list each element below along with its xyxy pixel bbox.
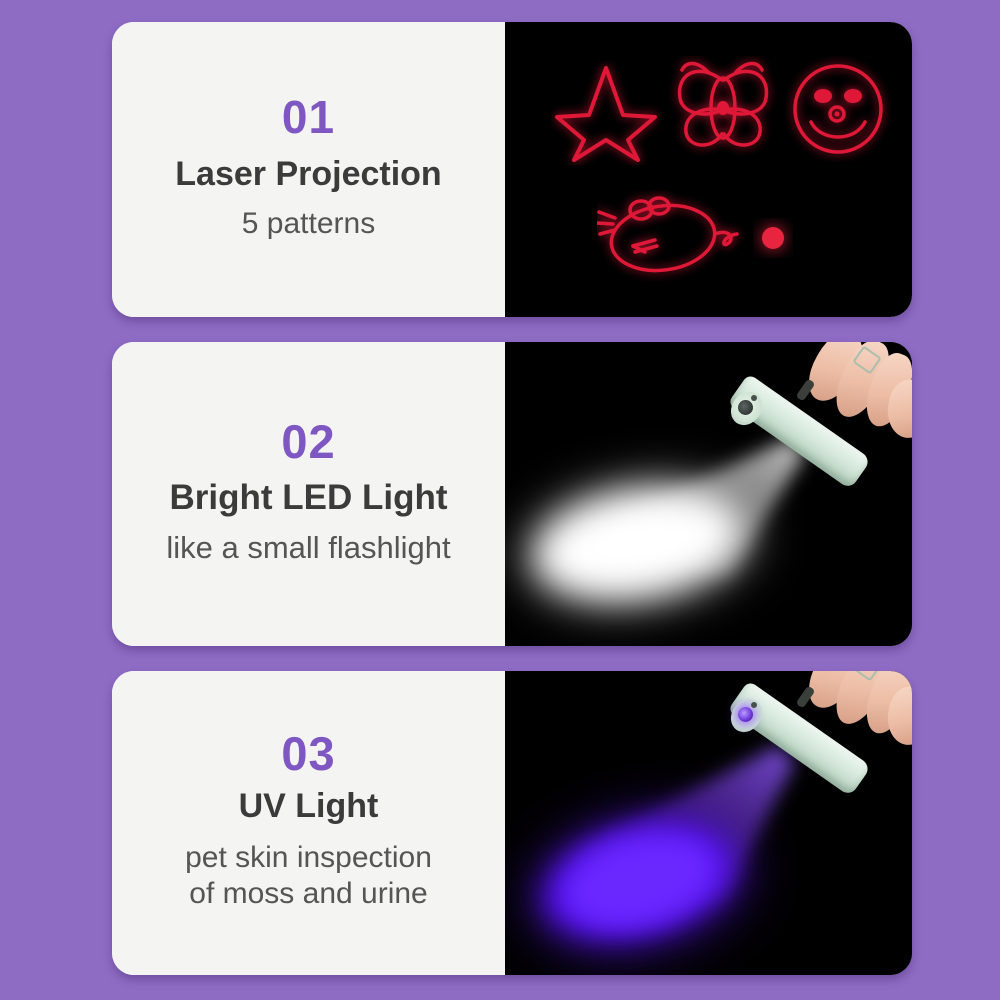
feature-card-uv-light: 03 UV Light pet skin inspection of moss … (112, 671, 912, 975)
pen-lens-secondary-dot (751, 702, 757, 708)
card-title-bright-led-light: Bright LED Light (169, 479, 447, 518)
card-number-03: 03 (281, 729, 335, 778)
card-text-panel-3: 03 UV Light pet skin inspection of moss … (112, 671, 505, 975)
card-text-panel-2: 02 Bright LED Light like a small flashli… (112, 342, 505, 646)
card-number-02: 02 (281, 417, 335, 466)
laser-pointer-pen-uv (718, 671, 912, 788)
led-photo (505, 342, 912, 646)
card-subtitle-uv-light: pet skin inspection of moss and urine (185, 840, 432, 913)
card-subtitle-bright-led-light: like a small flashlight (166, 530, 450, 567)
star-pattern-icon (551, 60, 661, 165)
card-subtitle-laser-projection: 5 patterns (242, 206, 375, 241)
card-title-uv-light: UV Light (239, 788, 379, 825)
feature-card-laser-projection: 01 Laser Projection 5 patterns (112, 22, 912, 317)
feature-card-bright-led-light: 02 Bright LED Light like a small flashli… (112, 342, 912, 646)
card-text-panel-1: 01 Laser Projection 5 patterns (112, 22, 505, 317)
uv-photo-panel (505, 671, 912, 975)
butterfly-pattern-icon (668, 56, 778, 164)
pen-lens-secondary-dot (751, 395, 757, 401)
laser-pointer-pen-led (718, 342, 912, 481)
pen-lens (738, 707, 753, 722)
dot-pattern-icon (753, 218, 793, 258)
uv-photo (505, 671, 912, 975)
laser-patterns-group (505, 22, 912, 317)
pen-lens (738, 400, 753, 415)
smiley-face-pattern-icon (785, 56, 891, 162)
mouse-pattern-icon (597, 190, 747, 282)
card-title-laser-projection: Laser Projection (175, 156, 441, 193)
led-photo-panel (505, 342, 912, 646)
card-number-01: 01 (282, 93, 335, 141)
laser-pattern-panel (505, 22, 912, 317)
product-feature-infographic: 01 Laser Projection 5 patterns (0, 0, 1000, 1000)
